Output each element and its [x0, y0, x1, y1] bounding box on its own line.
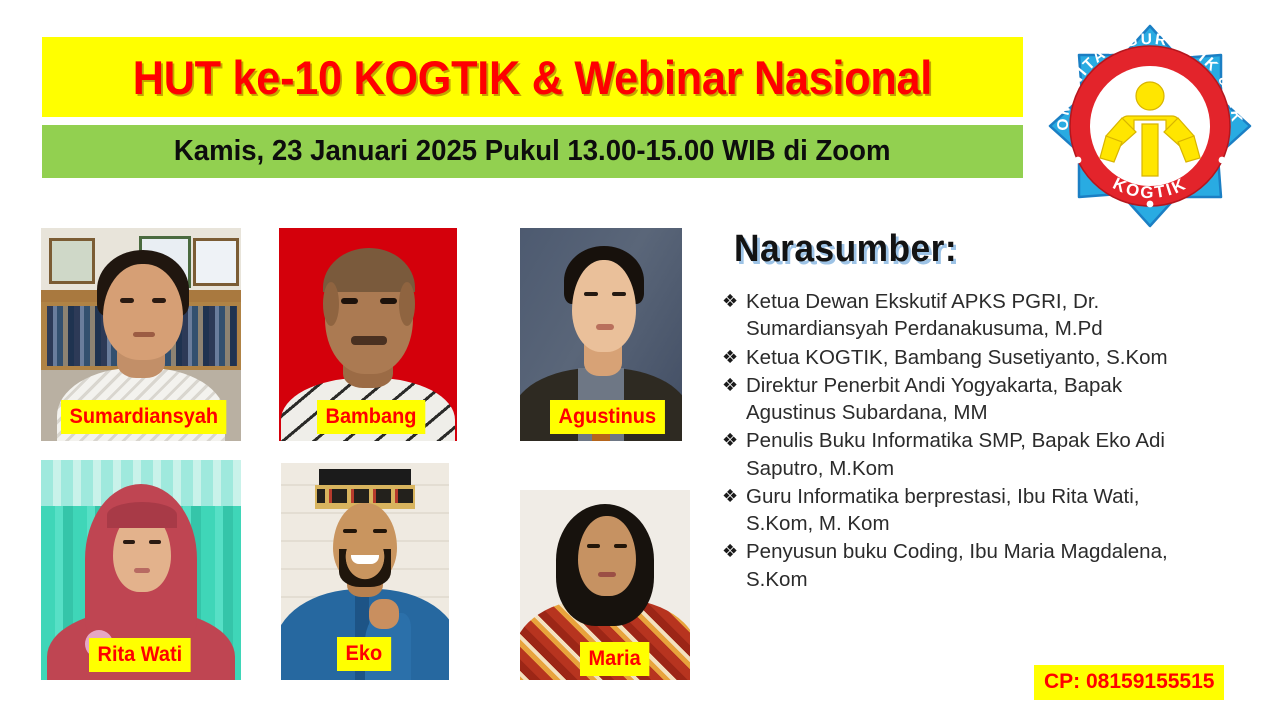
diamond-bullet-icon: ❖	[722, 372, 746, 398]
event-datetime: Kamis, 23 Januari 2025 Pukul 13.00-15.00…	[174, 135, 891, 168]
diamond-bullet-icon: ❖	[722, 344, 746, 370]
speaker-list-item: ❖ Ketua KOGTIK, Bambang Susetiyanto, S.K…	[722, 344, 1192, 371]
photo-name-label: Eko	[337, 637, 391, 671]
photo-name-label: Agustinus	[550, 400, 665, 434]
title-banner: HUT ke-10 KOGTIK & Webinar Nasional	[42, 37, 1023, 117]
contact-badge: CP: 08159155515	[1034, 665, 1224, 700]
speaker-list-item: ❖ Penulis Buku Informatika SMP, Bapak Ek…	[722, 427, 1192, 482]
photo-name-label: Rita Wati	[89, 638, 191, 672]
date-banner: Kamis, 23 Januari 2025 Pukul 13.00-15.00…	[42, 125, 1023, 178]
flyer-canvas: HUT ke-10 KOGTIK & Webinar Nasional Kami…	[0, 0, 1280, 720]
speaker-list: ❖ Ketua Dewan Ekskutif APKS PGRI, Dr. Su…	[722, 288, 1192, 594]
speaker-list-item: ❖ Direktur Penerbit Andi Yogyakarta, Bap…	[722, 372, 1192, 427]
diamond-bullet-icon: ❖	[722, 288, 746, 314]
diamond-bullet-icon: ❖	[722, 538, 746, 564]
speaker-photo-agustinus: Agustinus	[520, 228, 682, 441]
speaker-list-item: ❖ Penyusun buku Coding, Ibu Maria Magdal…	[722, 538, 1192, 593]
speaker-list-item-text: Penulis Buku Informatika SMP, Bapak Eko …	[746, 427, 1192, 482]
speaker-list-item-text: Ketua KOGTIK, Bambang Susetiyanto, S.Kom	[746, 344, 1192, 371]
photo-name-label: Bambang	[317, 400, 425, 434]
speaker-list-item-text: Guru Informatika berprestasi, Ibu Rita W…	[746, 483, 1192, 538]
speaker-photo-eko: Eko	[281, 463, 449, 680]
photo-name-label: Sumardiansyah	[61, 400, 227, 434]
speaker-list-item-text: Ketua Dewan Ekskutif APKS PGRI, Dr. Suma…	[746, 288, 1192, 343]
kogtik-logo: KOMUNITAS GURU TIK & KKPI KOGTIK	[1032, 12, 1268, 240]
speaker-photo-bambang: Bambang	[279, 228, 457, 441]
speaker-photo-maria: Maria	[520, 490, 690, 680]
speaker-photo-rita-wati: Rita Wati	[41, 460, 241, 680]
speaker-list-item: ❖ Ketua Dewan Ekskutif APKS PGRI, Dr. Su…	[722, 288, 1192, 343]
speaker-list-item: ❖ Guru Informatika berprestasi, Ibu Rita…	[722, 483, 1192, 538]
page-title: HUT ke-10 KOGTIK & Webinar Nasional	[133, 50, 932, 105]
diamond-bullet-icon: ❖	[722, 427, 746, 453]
diamond-bullet-icon: ❖	[722, 483, 746, 509]
speaker-photo-sumardiansyah: Sumardiansyah	[41, 228, 241, 441]
narasumber-heading: Narasumber:	[734, 228, 957, 271]
photo-name-label: Maria	[580, 642, 649, 676]
speaker-list-item-text: Penyusun buku Coding, Ibu Maria Magdalen…	[746, 538, 1192, 593]
speaker-list-item-text: Direktur Penerbit Andi Yogyakarta, Bapak…	[746, 372, 1192, 427]
